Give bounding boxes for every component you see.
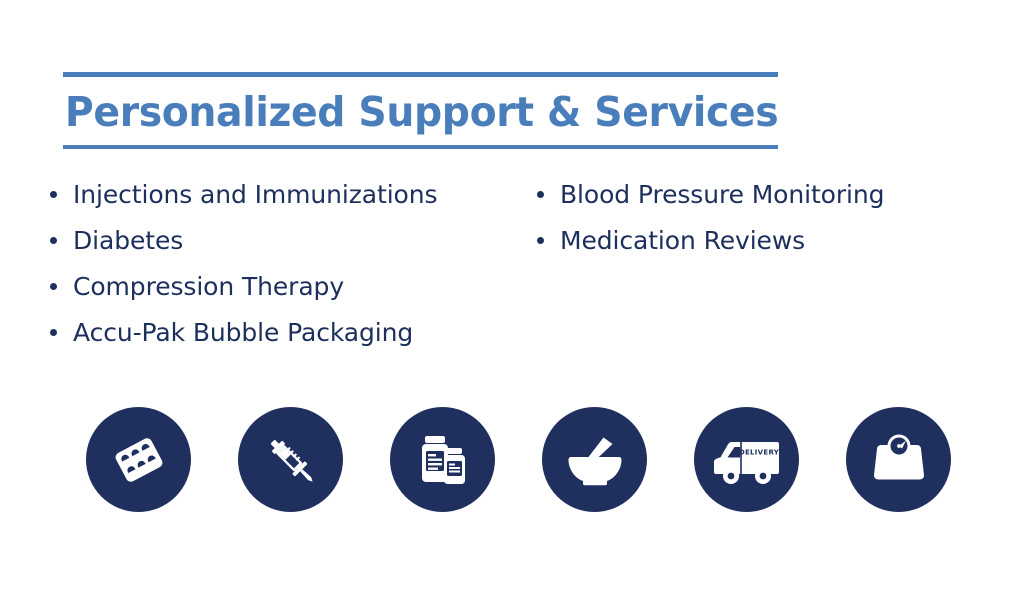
- bullet-dot-icon: [50, 191, 57, 198]
- services-column-left: Injections and Immunizations Diabetes Co…: [50, 178, 537, 362]
- list-item: Injections and Immunizations: [50, 178, 537, 224]
- icon-badge-blister-pack: [86, 407, 191, 512]
- list-item: Diabetes: [50, 224, 537, 270]
- service-icon-row: DELIVERY: [86, 407, 956, 512]
- services-list: Injections and Immunizations Diabetes Co…: [50, 178, 995, 362]
- list-item-label: Injections and Immunizations: [73, 178, 437, 212]
- weight-scale-icon: [867, 428, 931, 492]
- bullet-dot-icon: [50, 283, 57, 290]
- list-item-label: Compression Therapy: [73, 270, 344, 304]
- icon-badge-syringe: [238, 407, 343, 512]
- icon-badge-pill-bottles: [390, 407, 495, 512]
- van-delivery-text: DELIVERY: [738, 448, 779, 456]
- title-rule-bottom: [63, 145, 778, 149]
- delivery-van-icon: DELIVERY: [711, 428, 783, 492]
- bullet-dot-icon: [50, 329, 57, 336]
- list-item-label: Blood Pressure Monitoring: [560, 178, 884, 212]
- list-item-label: Diabetes: [73, 224, 183, 258]
- bullet-dot-icon: [537, 237, 544, 244]
- icon-badge-weight-scale: [846, 407, 951, 512]
- list-item: Accu-Pak Bubble Packaging: [50, 316, 537, 362]
- pill-bottles-icon: [411, 428, 475, 492]
- services-column-right: Blood Pressure Monitoring Medication Rev…: [537, 178, 987, 270]
- list-item: Medication Reviews: [537, 224, 987, 270]
- icon-badge-mortar-pestle: [542, 407, 647, 512]
- bullet-dot-icon: [50, 237, 57, 244]
- bullet-dot-icon: [537, 191, 544, 198]
- list-item: Compression Therapy: [50, 270, 537, 316]
- title-block: Personalized Support & Services: [63, 72, 778, 149]
- mortar-pestle-icon: [563, 428, 627, 492]
- syringe-icon: [259, 428, 323, 492]
- page-title: Personalized Support & Services: [63, 77, 749, 145]
- slide-canvas: Personalized Support & Services Injectio…: [0, 0, 1025, 590]
- list-item-label: Accu-Pak Bubble Packaging: [73, 316, 413, 350]
- icon-badge-delivery-van: DELIVERY: [694, 407, 799, 512]
- blister-pack-icon: [107, 428, 171, 492]
- list-item: Blood Pressure Monitoring: [537, 178, 987, 224]
- list-item-label: Medication Reviews: [560, 224, 805, 258]
